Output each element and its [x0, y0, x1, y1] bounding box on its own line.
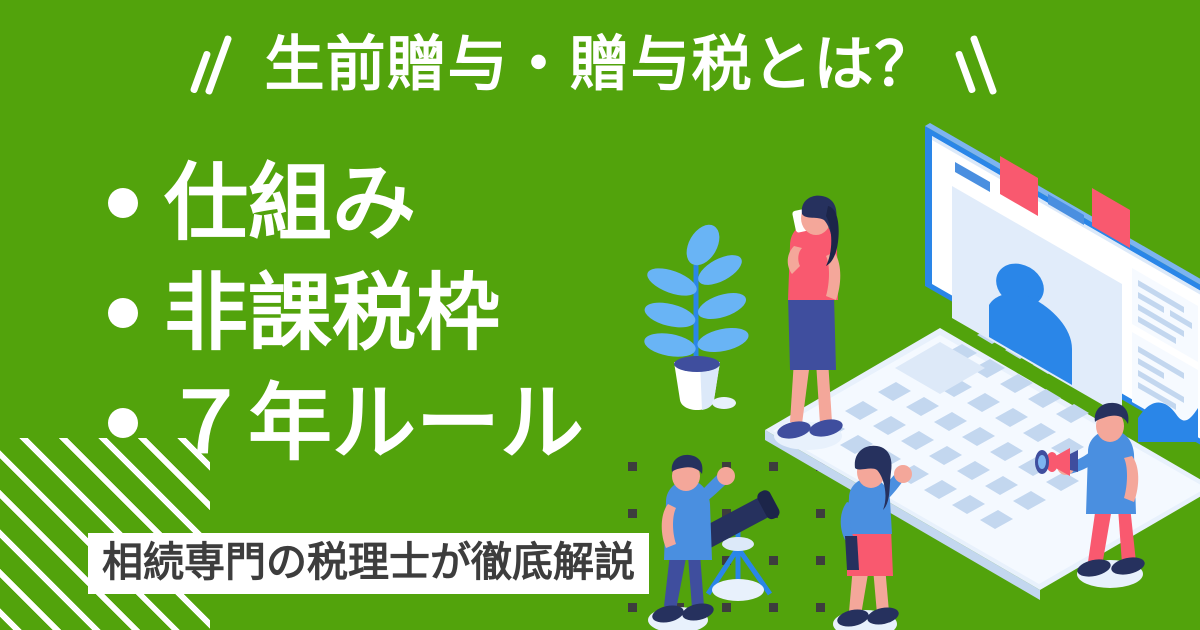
headline-text: 生前贈与・贈与税とは？ — [265, 35, 936, 95]
headline: 生前贈与・贈与税とは？ — [0, 32, 1200, 98]
list-item: 非課税枠 — [98, 258, 698, 368]
dot — [628, 603, 637, 612]
bullet-dot-icon — [108, 188, 138, 218]
man-with-telescope — [648, 455, 782, 630]
bullet-label: ７年ルール — [164, 381, 584, 465]
subtitle-ribbon: 相続専門の税理士が徹底解説 — [88, 533, 649, 594]
isometric-laptop-illustration — [640, 100, 1200, 630]
bullet-list: 仕組み 非課税枠 ７年ルール — [98, 148, 698, 478]
list-item: 仕組み — [98, 148, 698, 258]
poster-canvas: 生前贈与・贈与税とは？ 仕組み 非課税枠 ７年ルール 相続専門の税理士が徹底解説 — [0, 0, 1200, 630]
bullet-label: 非課税枠 — [164, 271, 500, 355]
left-slash-icon — [193, 32, 255, 98]
subtitle-text: 相続専門の税理士が徹底解説 — [102, 541, 635, 584]
right-slash-icon — [946, 32, 1008, 98]
list-item: ７年ルール — [98, 368, 698, 478]
dot — [628, 509, 637, 518]
bullet-dot-icon — [108, 298, 138, 328]
bullet-label: 仕組み — [164, 161, 416, 245]
bullet-dot-icon — [108, 408, 138, 438]
